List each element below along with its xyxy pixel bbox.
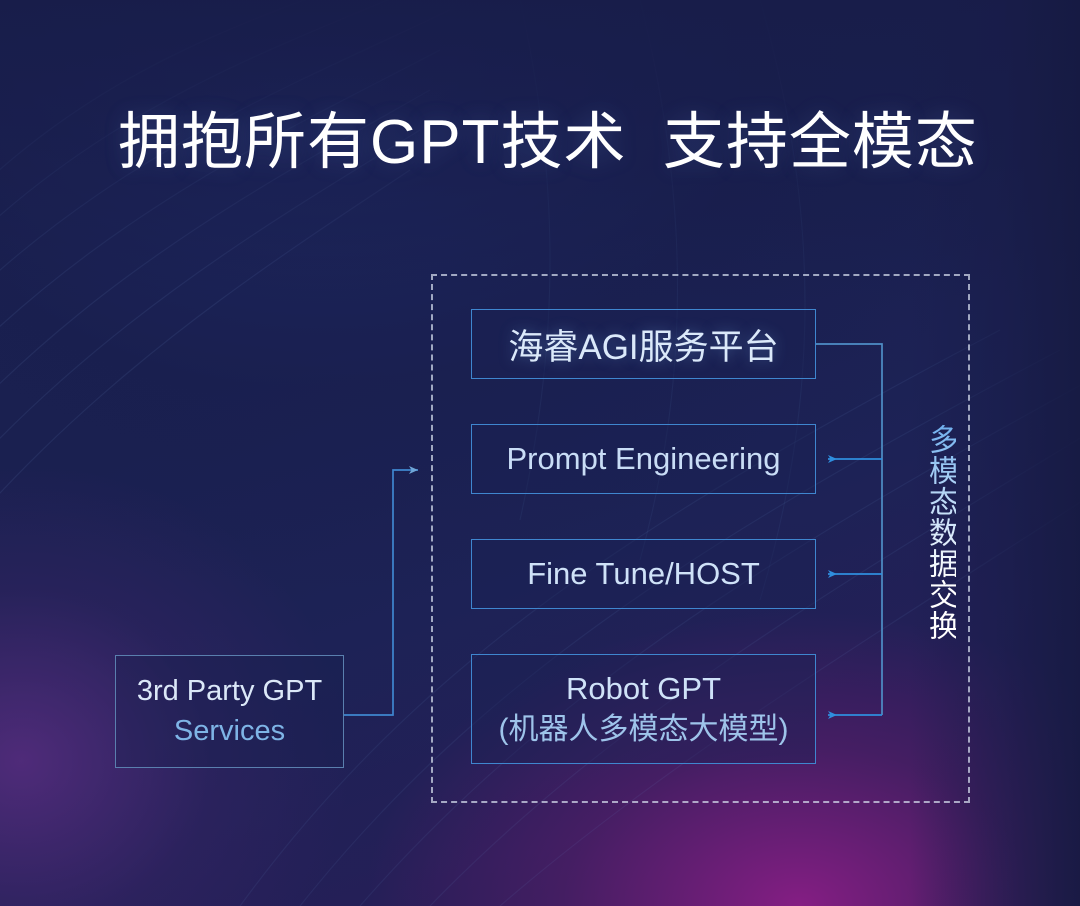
- node-prompt-engineering-label: Prompt Engineering: [507, 441, 781, 477]
- node-robot-gpt-sublabel: (机器人多模态大模型): [499, 710, 789, 750]
- node-third-party-gpt[interactable]: 3rd Party GPT Services: [115, 655, 344, 768]
- slide-title: 拥抱所有GPT技术 支持全模态: [118, 108, 978, 177]
- node-fine-tune-host[interactable]: Fine Tune/HOST: [471, 539, 816, 609]
- node-robot-gpt[interactable]: Robot GPT (机器人多模态大模型): [471, 654, 816, 764]
- node-fine-tune-host-label: Fine Tune/HOST: [527, 556, 760, 592]
- node-agi-platform-label: 海睿AGI服务平台: [508, 319, 778, 370]
- node-third-party-gpt-label: 3rd Party GPT: [137, 672, 322, 711]
- vertical-data-exchange-label: 多模态数据交换: [912, 424, 956, 641]
- node-third-party-gpt-sublabel: Services: [174, 712, 285, 751]
- slide-canvas: 拥抱所有GPT技术 支持全模态: [0, 0, 1080, 906]
- node-prompt-engineering[interactable]: Prompt Engineering: [471, 424, 816, 494]
- node-robot-gpt-label: Robot GPT: [566, 669, 721, 710]
- node-agi-platform[interactable]: 海睿AGI服务平台: [471, 309, 816, 379]
